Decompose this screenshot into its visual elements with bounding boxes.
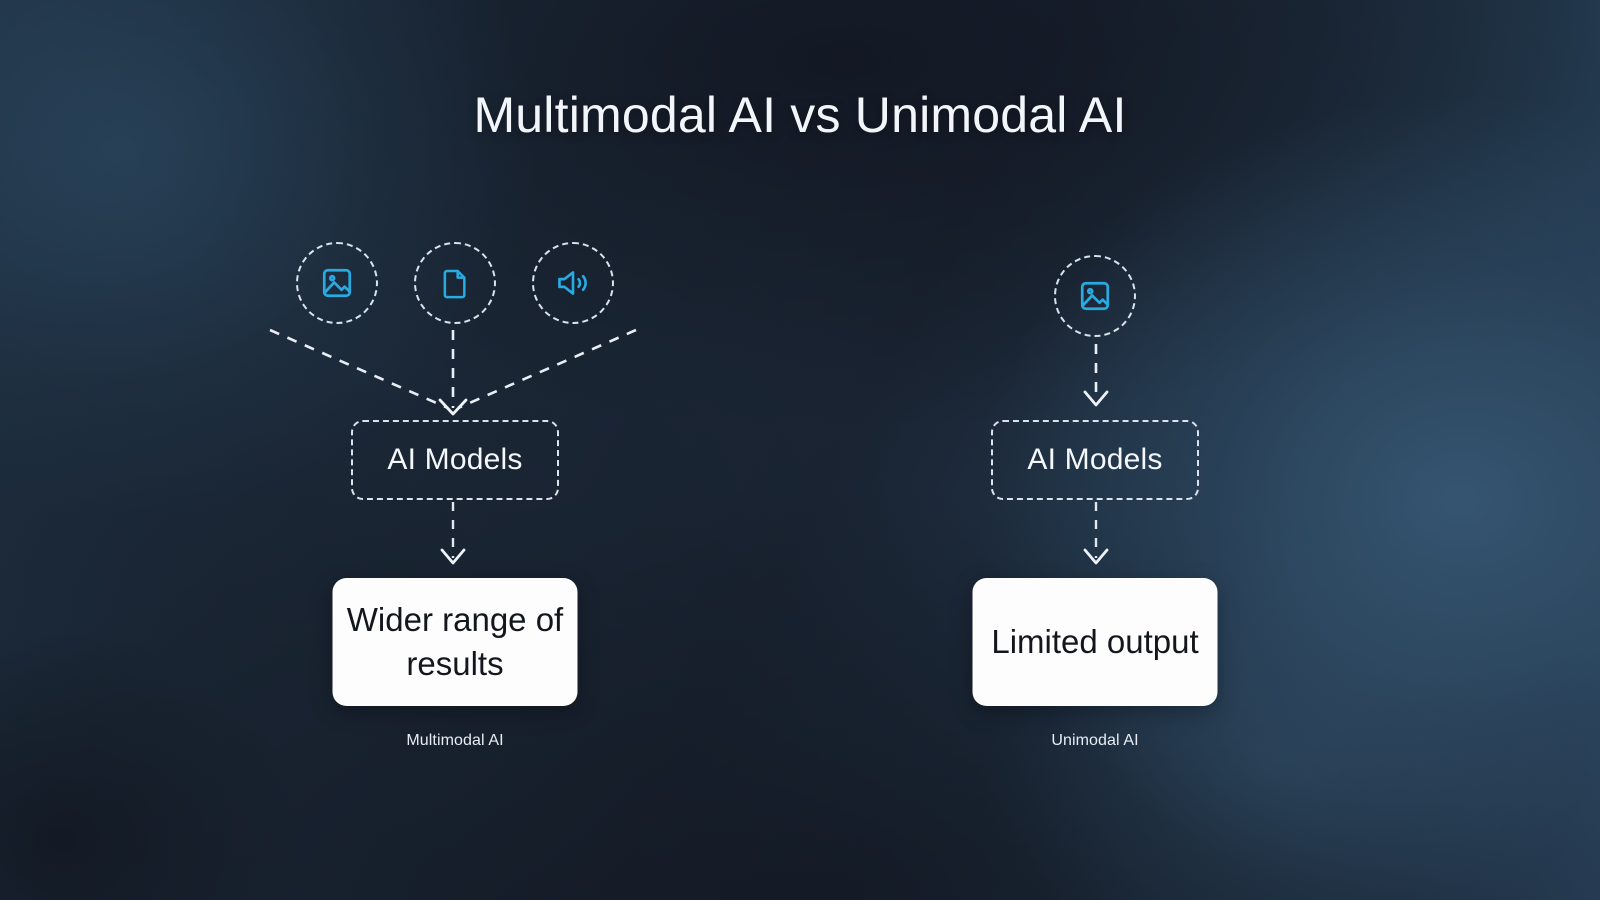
image-icon [320, 266, 354, 300]
connector-line-image [270, 330, 448, 408]
caption-unimodal: Unimodal AI [830, 732, 1360, 750]
result-arrow-icon [1085, 550, 1107, 563]
input-arrow-icon [1085, 392, 1107, 405]
result-text-unimodal: Limited output [991, 620, 1198, 664]
document-icon [439, 267, 471, 299]
input-badge-audio[interactable] [532, 242, 614, 324]
unimodal-input-icons [830, 255, 1360, 337]
input-badge-image[interactable] [1054, 255, 1136, 337]
result-text-multimodal: Wider range of results [347, 598, 564, 685]
result-arrow-icon [442, 550, 464, 563]
caption-multimodal: Multimodal AI [190, 732, 720, 750]
result-box-unimodal: Limited output [973, 578, 1218, 706]
result-box-multimodal: Wider range of results [333, 578, 578, 706]
converge-arrow-icon [440, 400, 466, 414]
slide-canvas: Multimodal AI vs Unimodal AI [0, 0, 1600, 900]
image-icon [1078, 279, 1112, 313]
input-badge-document[interactable] [414, 242, 496, 324]
unimodal-column: AI Models Limited output Unimodal AI [830, 0, 1360, 900]
multimodal-column: AI Models Wider range of results Multimo… [190, 0, 720, 900]
input-badge-image[interactable] [296, 242, 378, 324]
model-box-unimodal[interactable]: AI Models [991, 420, 1199, 500]
connector-line-audio [458, 330, 636, 408]
audio-icon [555, 266, 591, 300]
multimodal-input-icons [190, 242, 720, 324]
model-box-multimodal[interactable]: AI Models [351, 420, 559, 500]
